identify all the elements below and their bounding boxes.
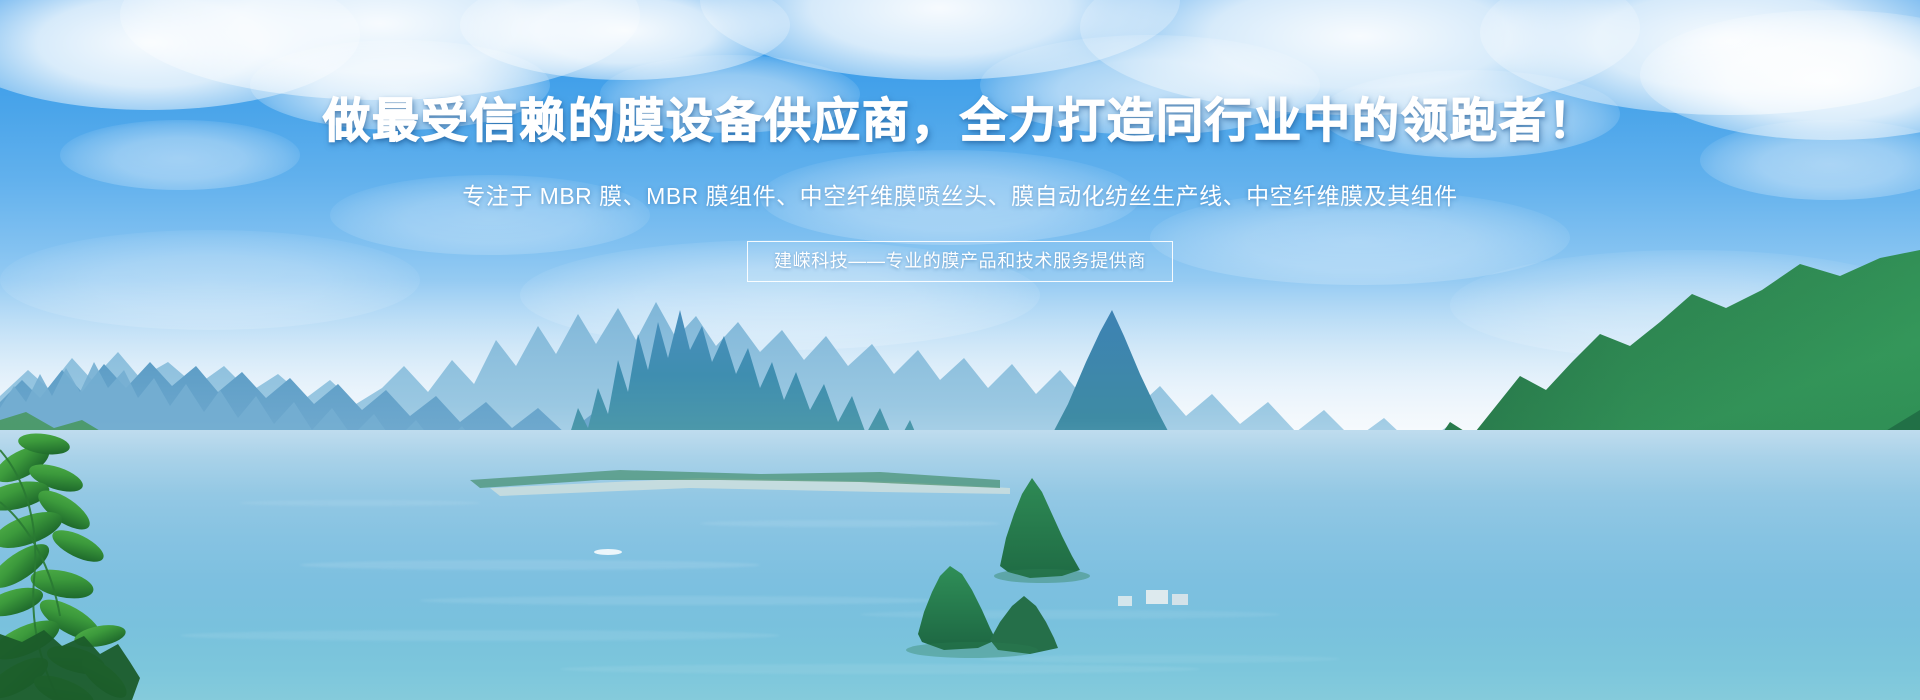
banner-subtitle: 专注于 MBR 膜、MBR 膜组件、中空纤维膜喷丝头、膜自动化纺丝生产线、中空纤… bbox=[0, 185, 1920, 208]
lake-water bbox=[0, 430, 1920, 700]
banner-tagline-box: 建嵘科技——专业的膜产品和技术服务提供商 bbox=[747, 241, 1173, 282]
hero-banner: 做最受信赖的膜设备供应商，全力打造同行业中的领跑者！ 专注于 MBR 膜、MBR… bbox=[0, 0, 1920, 700]
sky-background bbox=[0, 0, 1920, 430]
banner-headline: 做最受信赖的膜设备供应商，全力打造同行业中的领跑者！ bbox=[0, 97, 1920, 144]
